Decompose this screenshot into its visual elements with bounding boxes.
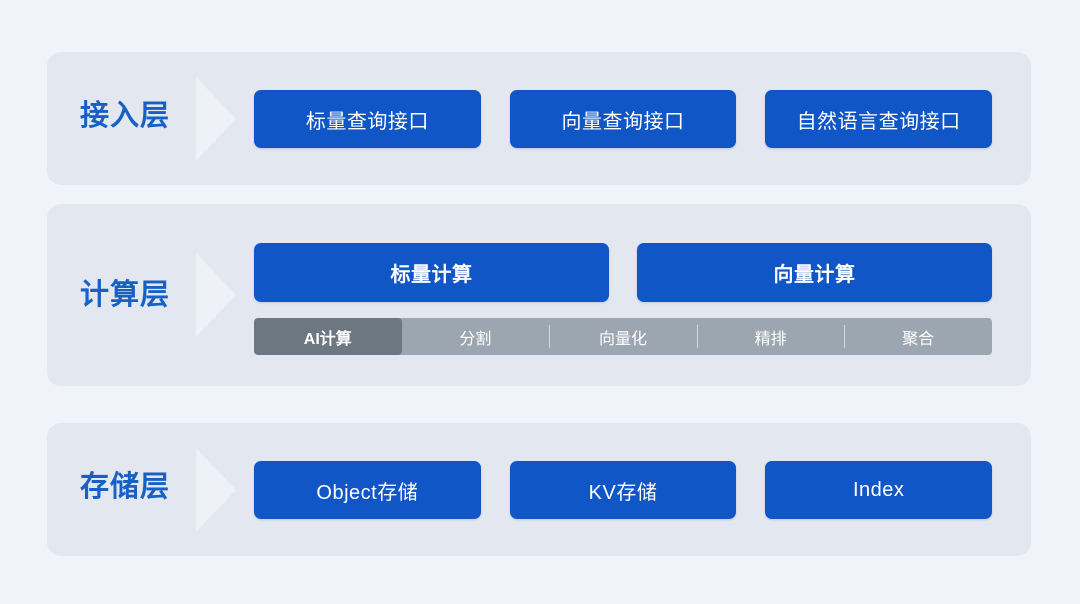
compute-segment-strip: AI计算 分割 向量化 精排 聚合 bbox=[254, 318, 992, 355]
access-box-natural-language-query-api[interactable]: 自然语言查询接口 bbox=[765, 90, 992, 148]
layer-panel-compute: 计算层 标量计算 向量计算 AI计算 分割 向量化 精排 聚合 bbox=[47, 204, 1031, 386]
arrow-right-icon-compute bbox=[196, 253, 236, 337]
storage-box-index[interactable]: Index bbox=[765, 461, 992, 519]
access-box-scalar-query-api[interactable]: 标量查询接口 bbox=[254, 90, 481, 148]
access-box-row: 标量查询接口 向量查询接口 自然语言查询接口 bbox=[254, 90, 992, 148]
layer-panel-access: 接入层 标量查询接口 向量查询接口 自然语言查询接口 bbox=[47, 52, 1031, 185]
arrow-right-icon-storage bbox=[196, 448, 236, 532]
layer-panel-storage: 存储层 Object存储 KV存储 Index bbox=[47, 423, 1031, 556]
storage-box-kv-storage[interactable]: KV存储 bbox=[510, 461, 737, 519]
compute-box-vector-compute[interactable]: 向量计算 bbox=[637, 243, 992, 302]
segment-ai-compute[interactable]: AI计算 bbox=[254, 318, 402, 355]
segment-split[interactable]: 分割 bbox=[402, 318, 550, 355]
arrow-right-icon-access bbox=[196, 77, 236, 161]
segment-rerank[interactable]: 精排 bbox=[697, 318, 845, 355]
segment-aggregate[interactable]: 聚合 bbox=[844, 318, 992, 355]
segment-vectorize[interactable]: 向量化 bbox=[549, 318, 697, 355]
access-box-vector-query-api[interactable]: 向量查询接口 bbox=[510, 90, 737, 148]
compute-box-scalar-compute[interactable]: 标量计算 bbox=[254, 243, 609, 302]
storage-box-row: Object存储 KV存储 Index bbox=[254, 461, 992, 519]
architecture-diagram: 接入层 标量查询接口 向量查询接口 自然语言查询接口 计算层 标量计算 向量计算… bbox=[0, 0, 1080, 604]
compute-box-row: 标量计算 向量计算 bbox=[254, 243, 992, 302]
storage-box-object-storage[interactable]: Object存储 bbox=[254, 461, 481, 519]
